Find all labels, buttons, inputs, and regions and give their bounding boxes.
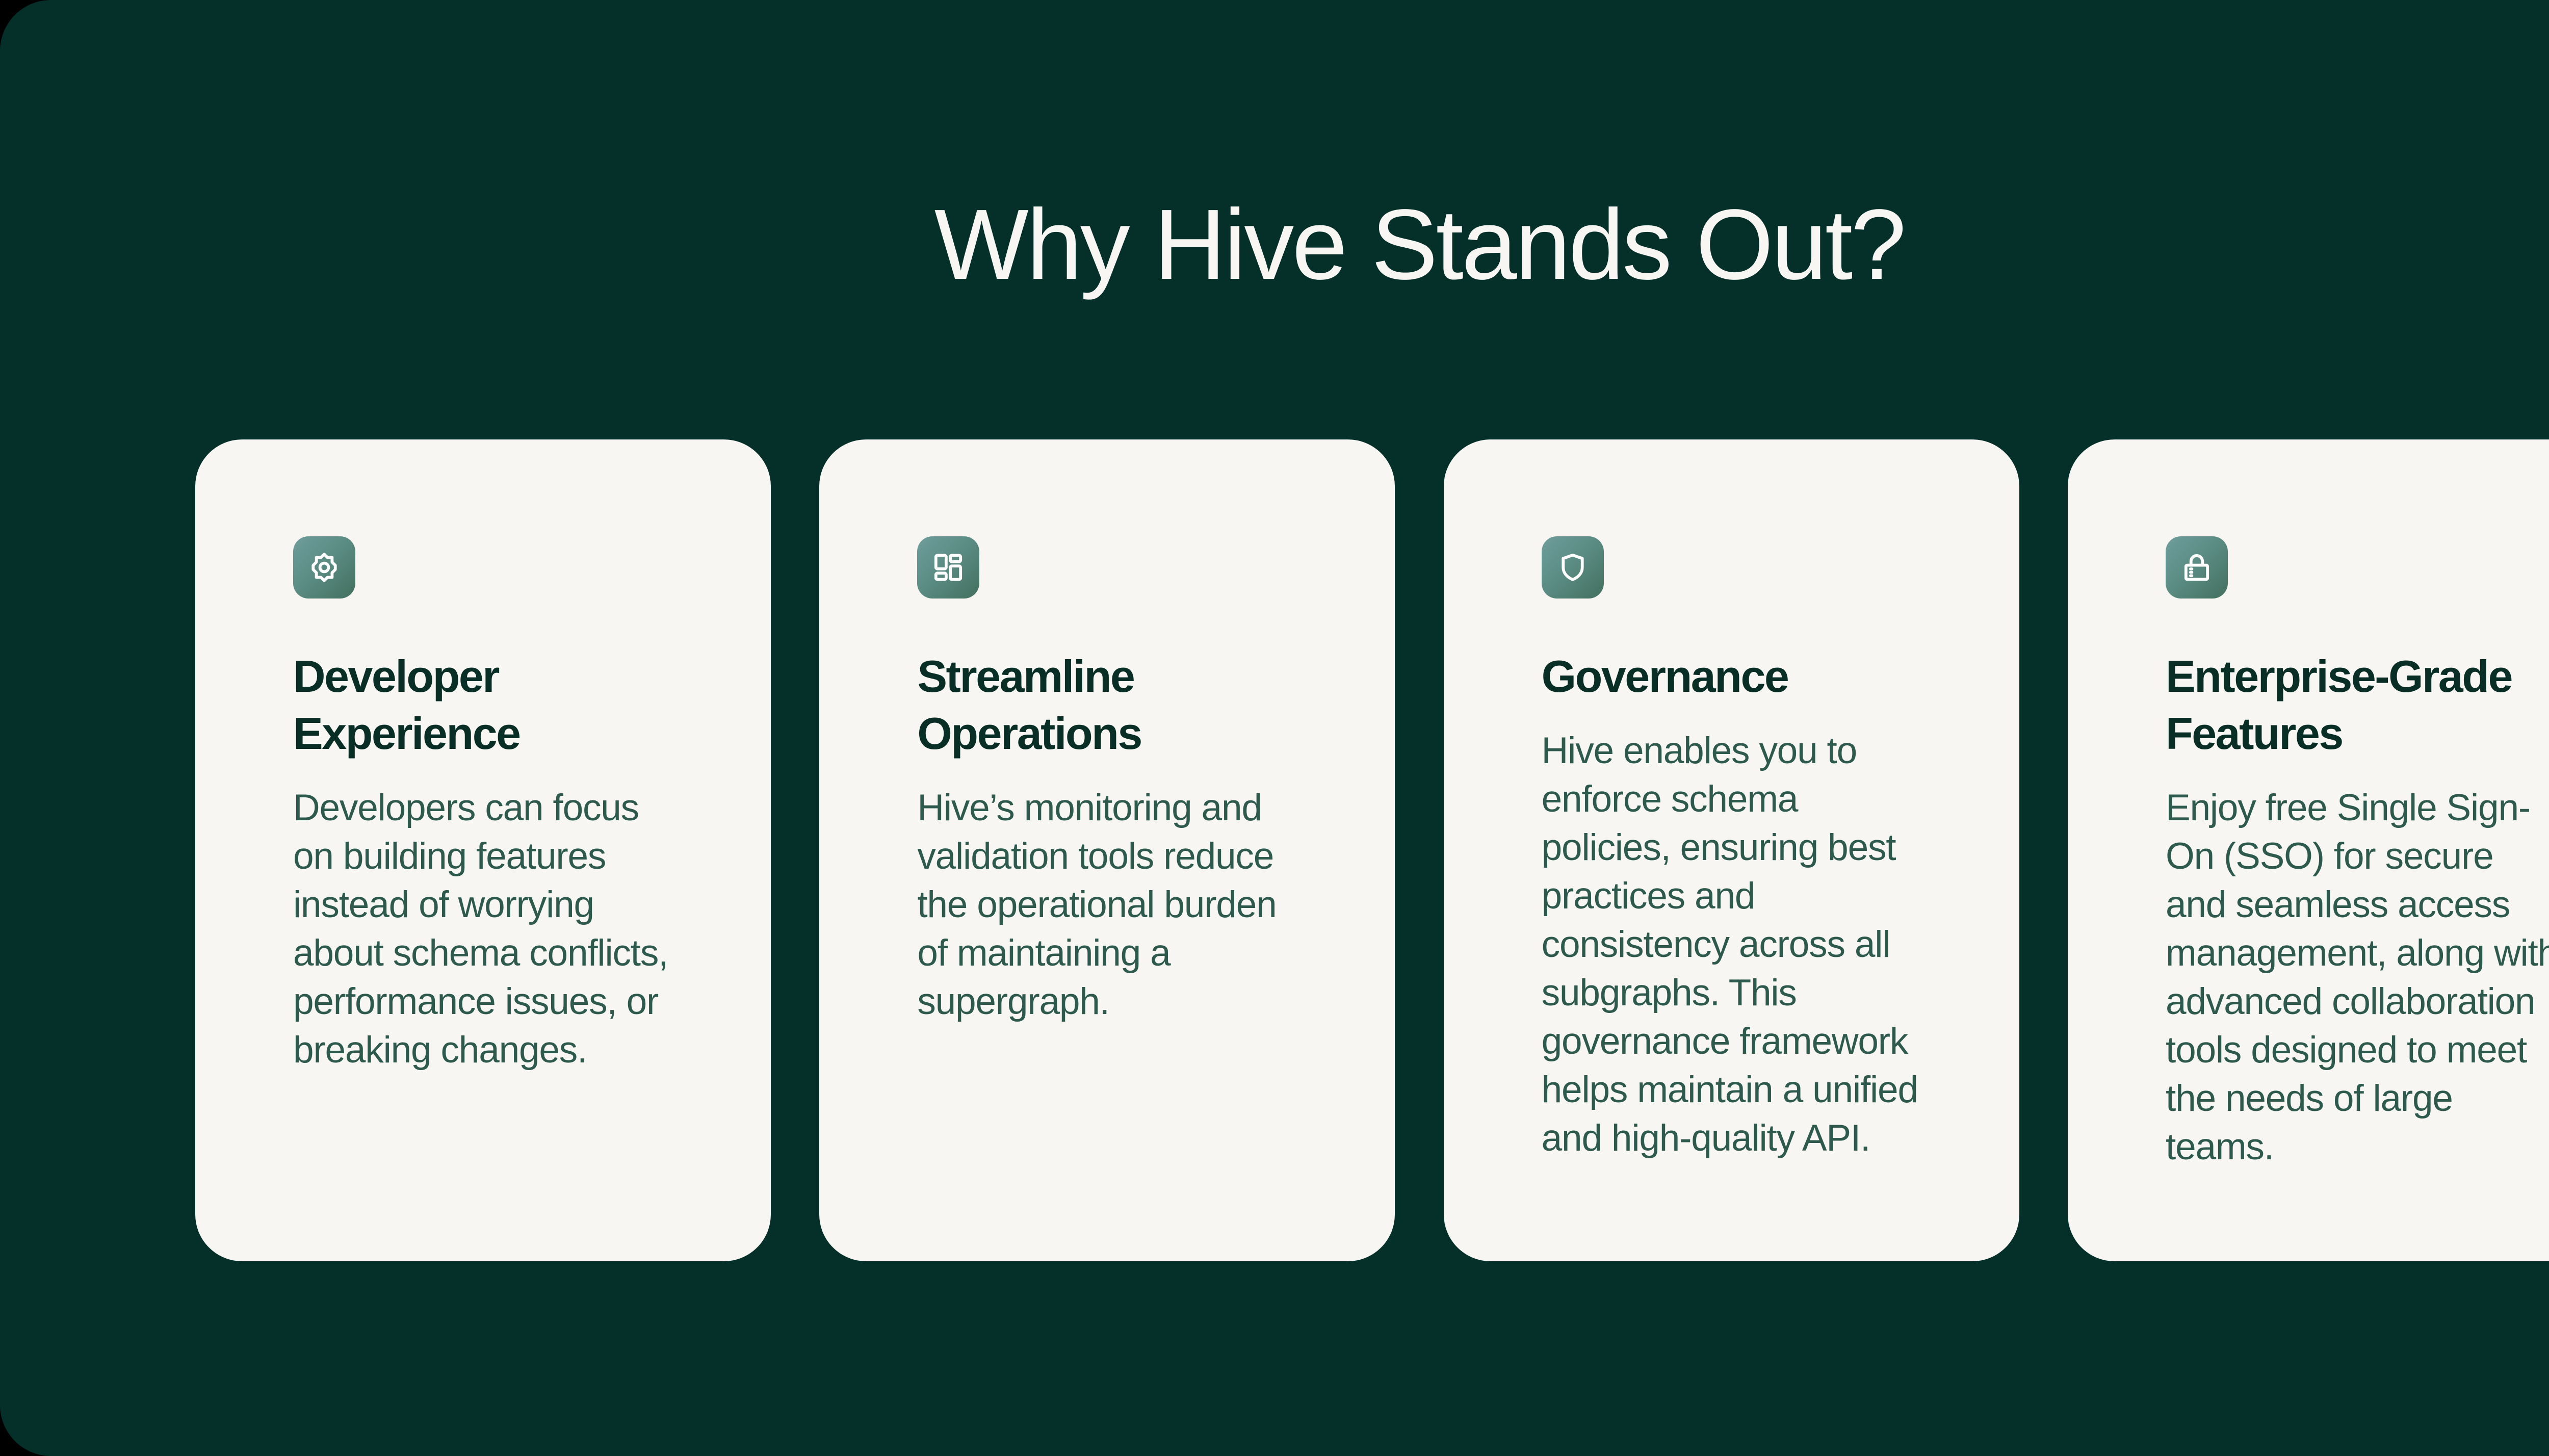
- feature-card-heading: Governance: [1542, 648, 1960, 705]
- feature-card-heading: Streamline Operations: [917, 648, 1233, 762]
- feature-card-body: Enjoy free Single Sign-On (SSO) for secu…: [2166, 784, 2549, 1171]
- feature-card-grid: Developer Experience Developers can focu…: [195, 439, 2549, 1261]
- feature-card-heading: Enterprise-Grade Features: [2166, 648, 2522, 762]
- gear-star-icon: [293, 536, 355, 599]
- feature-card-body: Hive’s monitoring and validation tools r…: [917, 784, 1312, 1026]
- feature-card-streamline-operations[interactable]: Streamline Operations Hive’s monitoring …: [819, 439, 1395, 1261]
- feature-card-body: Hive enables you to enforce schema polic…: [1542, 726, 1929, 1162]
- feature-card-heading: Developer Experience: [293, 648, 619, 762]
- features-section-panel: Why Hive Stands Out? Developer Experienc…: [0, 0, 2549, 1456]
- feature-card-governance[interactable]: Governance Hive enables you to enforce s…: [1444, 439, 2019, 1261]
- feature-card-enterprise-grade-features[interactable]: Enterprise-Grade Features Enjoy free Sin…: [2068, 439, 2549, 1261]
- layout-dashboard-icon: [917, 536, 979, 599]
- feature-card-developer-experience[interactable]: Developer Experience Developers can focu…: [195, 439, 771, 1261]
- lock-icon: [2166, 536, 2228, 599]
- feature-card-body: Developers can focus on building feature…: [293, 784, 681, 1074]
- page-title: Why Hive Stands Out?: [0, 195, 2549, 295]
- shield-icon: [1542, 536, 1604, 599]
- screenshot-stage: Why Hive Stands Out? Developer Experienc…: [0, 0, 2549, 1456]
